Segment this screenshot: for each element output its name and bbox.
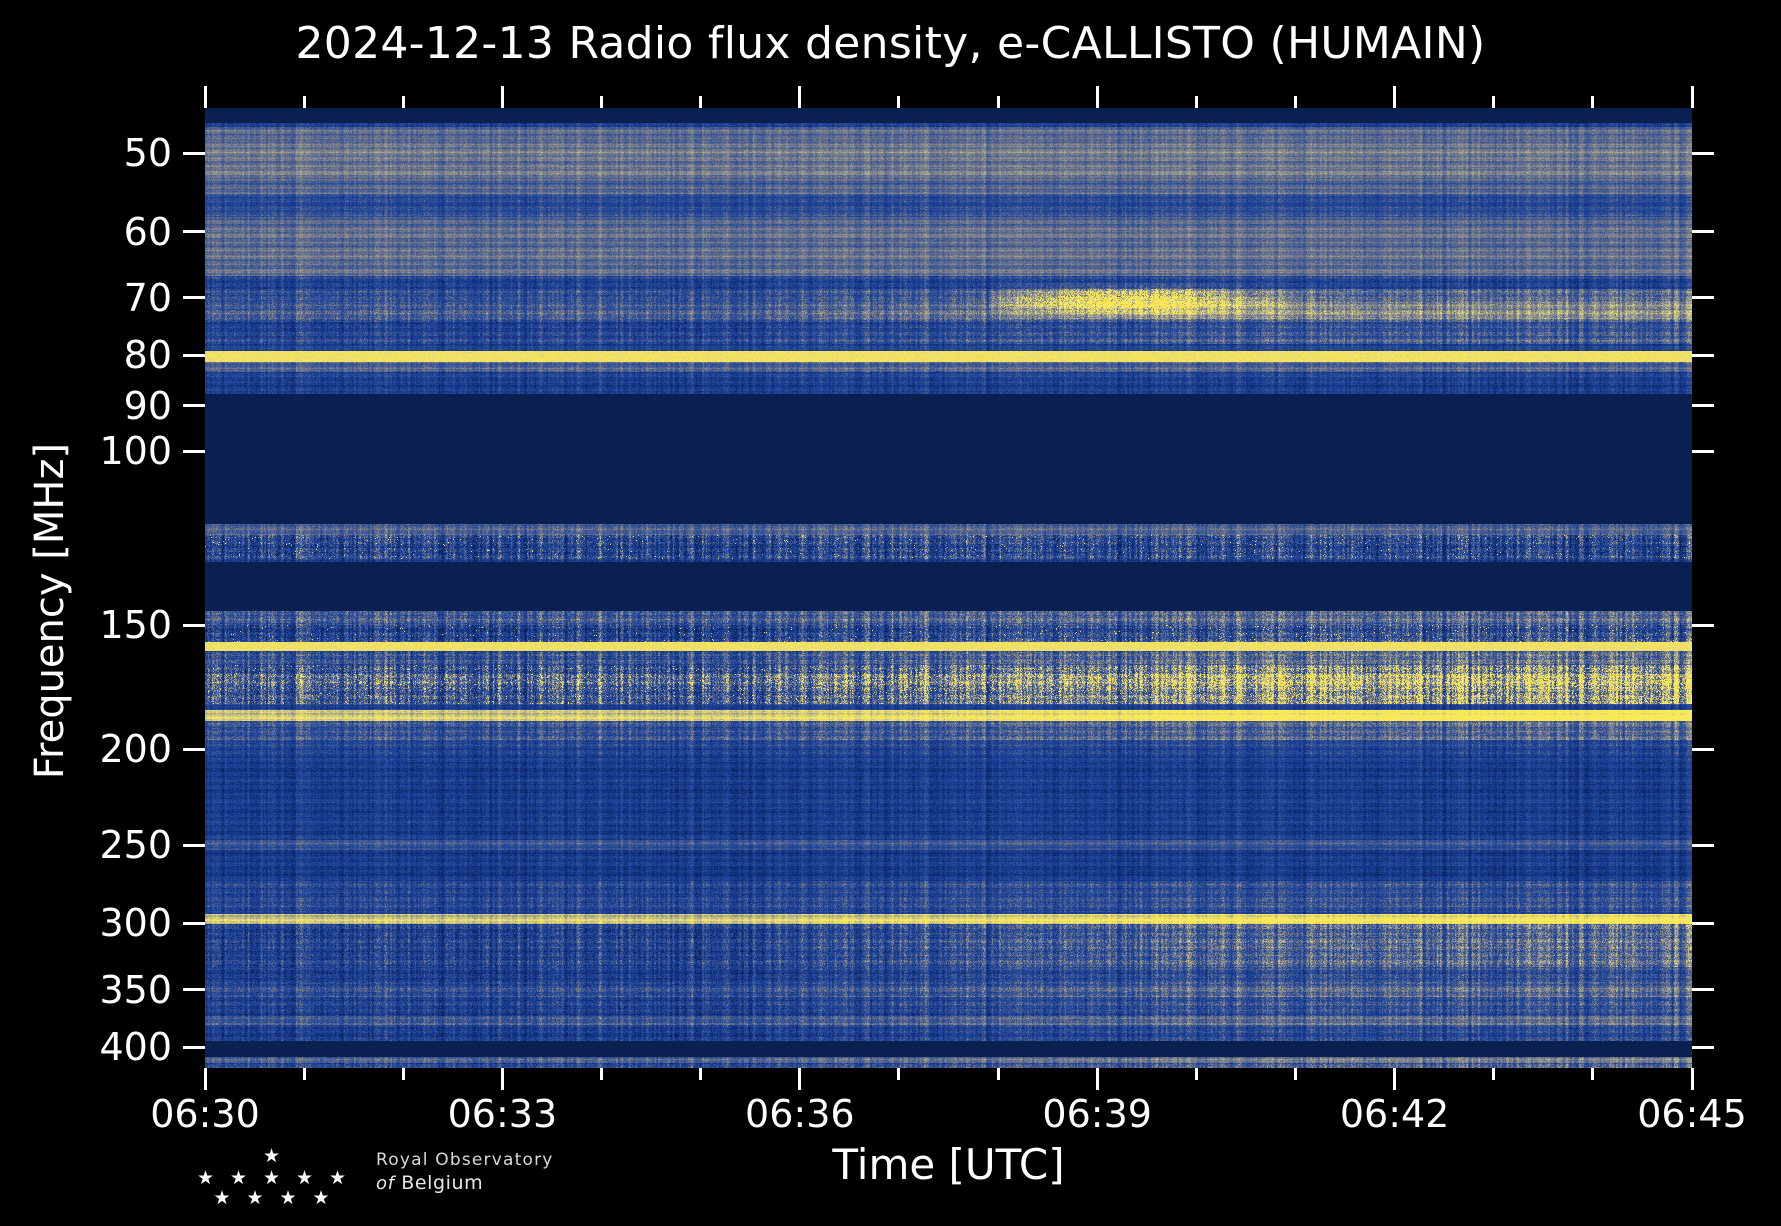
y-tick-90 bbox=[183, 404, 205, 407]
x-tick-06:42 bbox=[1393, 1068, 1396, 1090]
x-tick-label-06:30: 06:30 bbox=[150, 1092, 260, 1136]
royal-observatory-logo: ★★★★★★★★★★ Royal Observatory of Belgium bbox=[180, 1145, 600, 1215]
y-tick-label-80: 80 bbox=[0, 333, 172, 377]
spectrogram-plot-area bbox=[205, 108, 1692, 1068]
y-tick-right-400 bbox=[1692, 1046, 1714, 1049]
y-tick-label-150: 150 bbox=[0, 603, 172, 647]
y-tick-200 bbox=[183, 748, 205, 751]
y-tick-right-80 bbox=[1692, 354, 1714, 357]
x-tick-label-06:33: 06:33 bbox=[448, 1092, 558, 1136]
y-tick-label-300: 300 bbox=[0, 901, 172, 945]
x-tick-minor-top-13 bbox=[1492, 96, 1495, 108]
x-tick-minor-top-7 bbox=[897, 96, 900, 108]
x-tick-minor-1 bbox=[303, 1068, 306, 1080]
x-tick-minor-top-14 bbox=[1591, 96, 1594, 108]
y-tick-60 bbox=[183, 230, 205, 233]
y-tick-250 bbox=[183, 844, 205, 847]
x-tick-label-06:45: 06:45 bbox=[1637, 1092, 1747, 1136]
star-icon: ★ bbox=[247, 1189, 264, 1208]
y-tick-70 bbox=[183, 296, 205, 299]
x-tick-top-06:30 bbox=[204, 86, 207, 108]
x-tick-minor-13 bbox=[1492, 1068, 1495, 1080]
logo-line-2: of Belgium bbox=[376, 1171, 554, 1196]
x-tick-06:30 bbox=[204, 1068, 207, 1090]
star-icon: ★ bbox=[263, 1147, 280, 1166]
star-icon: ★ bbox=[230, 1169, 247, 1188]
y-tick-right-150 bbox=[1692, 624, 1714, 627]
y-tick-400 bbox=[183, 1046, 205, 1049]
x-tick-minor-7 bbox=[897, 1068, 900, 1080]
eu-stars-emblem: ★★★★★★★★★★ bbox=[180, 1145, 365, 1211]
x-tick-minor-4 bbox=[600, 1068, 603, 1080]
x-tick-minor-5 bbox=[699, 1068, 702, 1080]
y-tick-label-100: 100 bbox=[0, 429, 172, 473]
y-tick-50 bbox=[183, 152, 205, 155]
y-tick-label-90: 90 bbox=[0, 384, 172, 428]
y-tick-350 bbox=[183, 988, 205, 991]
spectrogram-canvas bbox=[205, 108, 1692, 1068]
spectrogram-figure: 2024-12-13 Radio flux density, e-CALLIST… bbox=[0, 0, 1781, 1226]
y-tick-right-70 bbox=[1692, 296, 1714, 299]
y-tick-right-50 bbox=[1692, 152, 1714, 155]
star-icon: ★ bbox=[329, 1169, 346, 1188]
y-tick-label-70: 70 bbox=[0, 276, 172, 320]
y-tick-label-200: 200 bbox=[0, 727, 172, 771]
y-tick-right-60 bbox=[1692, 230, 1714, 233]
y-tick-label-60: 60 bbox=[0, 210, 172, 254]
x-tick-top-06:33 bbox=[501, 86, 504, 108]
y-tick-right-350 bbox=[1692, 988, 1714, 991]
x-tick-minor-8 bbox=[997, 1068, 1000, 1080]
y-tick-right-300 bbox=[1692, 922, 1714, 925]
x-tick-minor-top-2 bbox=[402, 96, 405, 108]
x-tick-06:36 bbox=[798, 1068, 801, 1090]
star-icon: ★ bbox=[280, 1189, 297, 1208]
y-tick-300 bbox=[183, 922, 205, 925]
logo-of: of bbox=[376, 1173, 395, 1194]
y-tick-label-400: 400 bbox=[0, 1025, 172, 1069]
y-tick-label-350: 350 bbox=[0, 968, 172, 1012]
y-tick-label-250: 250 bbox=[0, 823, 172, 867]
x-tick-label-06:36: 06:36 bbox=[745, 1092, 855, 1136]
y-tick-100 bbox=[183, 450, 205, 453]
x-tick-minor-top-4 bbox=[600, 96, 603, 108]
logo-belgium: Belgium bbox=[401, 1172, 483, 1194]
star-icon: ★ bbox=[313, 1189, 330, 1208]
x-tick-top-06:45 bbox=[1691, 86, 1694, 108]
x-tick-06:33 bbox=[501, 1068, 504, 1090]
x-tick-label-06:39: 06:39 bbox=[1042, 1092, 1152, 1136]
chart-title: 2024-12-13 Radio flux density, e-CALLIST… bbox=[0, 18, 1781, 69]
x-tick-label-06:42: 06:42 bbox=[1340, 1092, 1450, 1136]
x-tick-minor-2 bbox=[402, 1068, 405, 1080]
x-tick-minor-top-11 bbox=[1294, 96, 1297, 108]
y-tick-right-90 bbox=[1692, 404, 1714, 407]
star-icon: ★ bbox=[263, 1169, 280, 1188]
x-tick-top-06:36 bbox=[798, 86, 801, 108]
star-icon: ★ bbox=[197, 1169, 214, 1188]
x-tick-minor-14 bbox=[1591, 1068, 1594, 1080]
x-tick-minor-top-5 bbox=[699, 96, 702, 108]
x-tick-06:45 bbox=[1691, 1068, 1694, 1090]
x-tick-minor-top-1 bbox=[303, 96, 306, 108]
x-tick-minor-10 bbox=[1195, 1068, 1198, 1080]
x-tick-minor-11 bbox=[1294, 1068, 1297, 1080]
y-tick-150 bbox=[183, 624, 205, 627]
x-tick-top-06:42 bbox=[1393, 86, 1396, 108]
y-tick-80 bbox=[183, 354, 205, 357]
logo-text: Royal Observatory of Belgium bbox=[376, 1149, 554, 1197]
x-tick-06:39 bbox=[1096, 1068, 1099, 1090]
y-tick-right-100 bbox=[1692, 450, 1714, 453]
star-icon: ★ bbox=[296, 1169, 313, 1188]
y-tick-label-50: 50 bbox=[0, 131, 172, 175]
x-tick-minor-top-10 bbox=[1195, 96, 1198, 108]
y-tick-right-200 bbox=[1692, 748, 1714, 751]
x-tick-top-06:39 bbox=[1096, 86, 1099, 108]
y-tick-right-250 bbox=[1692, 844, 1714, 847]
logo-line-1: Royal Observatory bbox=[376, 1149, 554, 1171]
star-icon: ★ bbox=[214, 1189, 231, 1208]
x-tick-minor-top-8 bbox=[997, 96, 1000, 108]
